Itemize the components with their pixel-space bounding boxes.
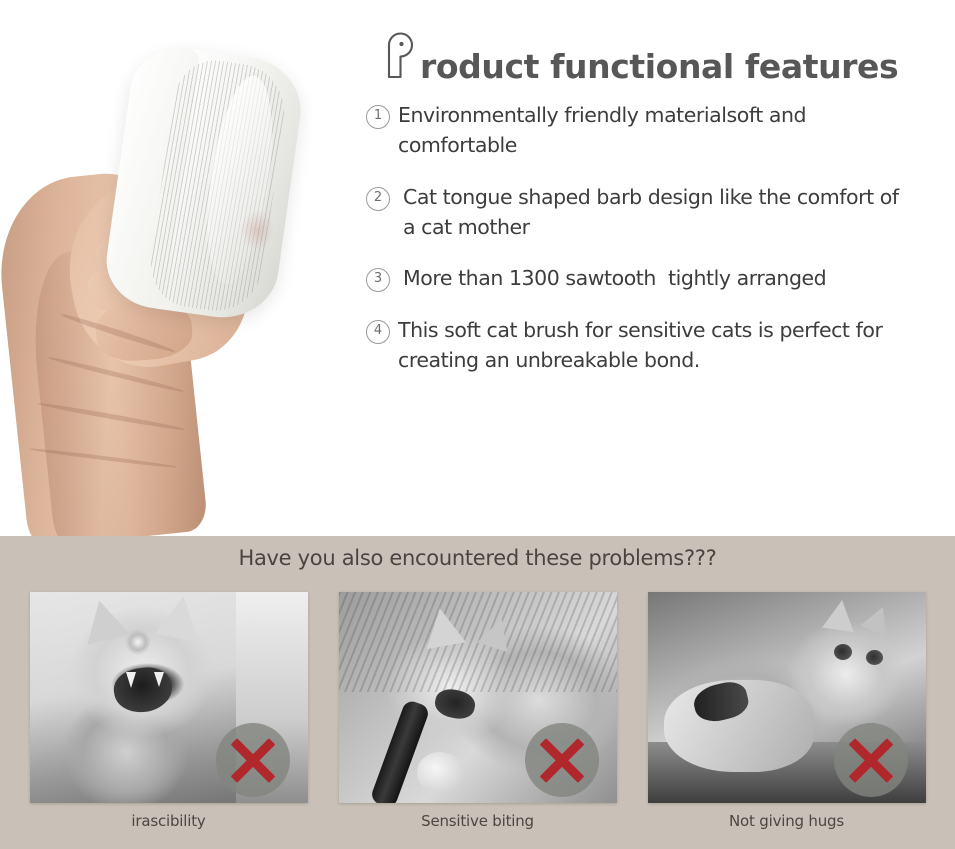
cat-fang xyxy=(126,672,136,688)
cat-eye xyxy=(866,650,883,665)
cat-open-mouth xyxy=(111,664,175,716)
problem-photo xyxy=(30,592,308,803)
feature-number: 1 xyxy=(366,105,390,129)
cat-paw xyxy=(417,752,463,792)
feature-item: 3 More than 1300 sawtooth tightly arrang… xyxy=(366,263,946,293)
feature-number: 4 xyxy=(366,320,390,344)
section-title-text: roduct functional features xyxy=(420,47,898,86)
decorative-p-icon xyxy=(385,34,419,78)
cat-eye xyxy=(834,644,852,660)
product-photo xyxy=(0,0,358,536)
problem-photo xyxy=(339,592,617,803)
problem-photo xyxy=(648,592,926,803)
problem-caption: irascibility xyxy=(30,812,308,830)
problem-card: Sensitive biting xyxy=(339,592,617,830)
problems-section: Have you also encountered these problems… xyxy=(0,536,955,849)
feature-number: 3 xyxy=(366,268,390,292)
problem-caption: Sensitive biting xyxy=(339,812,617,830)
bitten-object xyxy=(369,699,430,803)
feature-text: More than 1300 sawtooth tightly arranged xyxy=(398,263,826,293)
x-mark-badge xyxy=(216,723,290,797)
x-mark-badge xyxy=(525,723,599,797)
problems-heading: Have you also encountered these problems… xyxy=(0,546,955,570)
problem-card-list: irascibility Sensitive biting xyxy=(0,592,955,830)
x-mark-badge xyxy=(834,723,908,797)
feature-list: 1 Environmentally friendly materialsoft … xyxy=(366,100,946,396)
cat-ear xyxy=(420,605,466,649)
cat-ear xyxy=(860,602,896,637)
product-feature-page: roduct functional features 1 Environment… xyxy=(0,0,955,849)
feature-item: 4 This soft cat brush for sensitive cats… xyxy=(366,315,946,376)
feature-number: 2 xyxy=(366,187,390,211)
problem-card: irascibility xyxy=(30,592,308,830)
product-features-section: roduct functional features 1 Environment… xyxy=(0,0,955,536)
cat-ear xyxy=(77,595,129,644)
cat-ear xyxy=(822,598,858,632)
features-panel: roduct functional features 1 Environment… xyxy=(358,0,955,536)
problem-card: Not giving hugs xyxy=(648,592,926,830)
feature-text: Cat tongue shaped barb design like the c… xyxy=(398,182,908,243)
problem-caption: Not giving hugs xyxy=(648,812,926,830)
cat-ear xyxy=(154,592,205,641)
cat-fang xyxy=(154,672,164,687)
section-title: roduct functional features xyxy=(385,34,898,86)
feature-text: Environmentally friendly materialsoft an… xyxy=(398,100,903,161)
cat-brush-product xyxy=(101,41,308,324)
feature-item: 2 Cat tongue shaped barb design like the… xyxy=(366,182,946,243)
feature-item: 1 Environmentally friendly materialsoft … xyxy=(366,100,946,161)
feature-text: This soft cat brush for sensitive cats i… xyxy=(398,315,903,376)
